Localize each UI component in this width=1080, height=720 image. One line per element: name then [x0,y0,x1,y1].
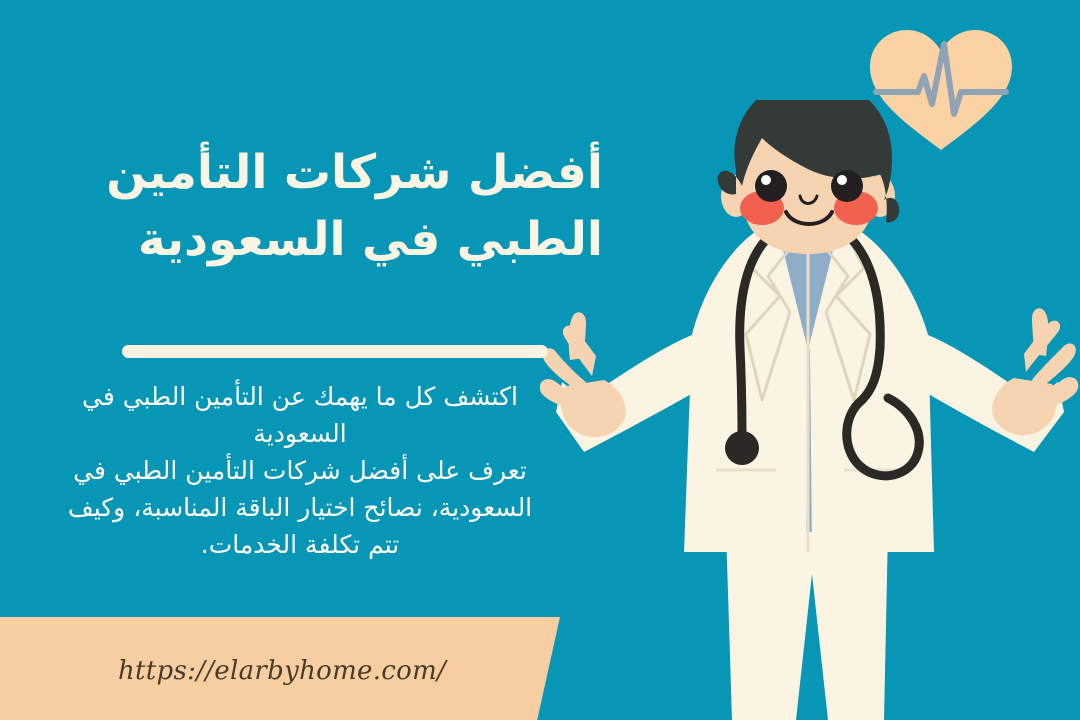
section-divider [122,345,548,358]
website-url[interactable]: https://elarbyhome.com/ [118,656,446,686]
banner-canvas: أفضل شركات التأمين الطبي في السعودية اكت… [0,0,1080,720]
doctor-character [540,100,1080,720]
page-title: أفضل شركات التأمين الطبي في السعودية [7,140,615,273]
headline-block: أفضل شركات التأمين الطبي في السعودية [0,140,615,273]
description-text: اكتشف كل ما يهمك عن التأمين الطبي في الس… [60,378,540,563]
